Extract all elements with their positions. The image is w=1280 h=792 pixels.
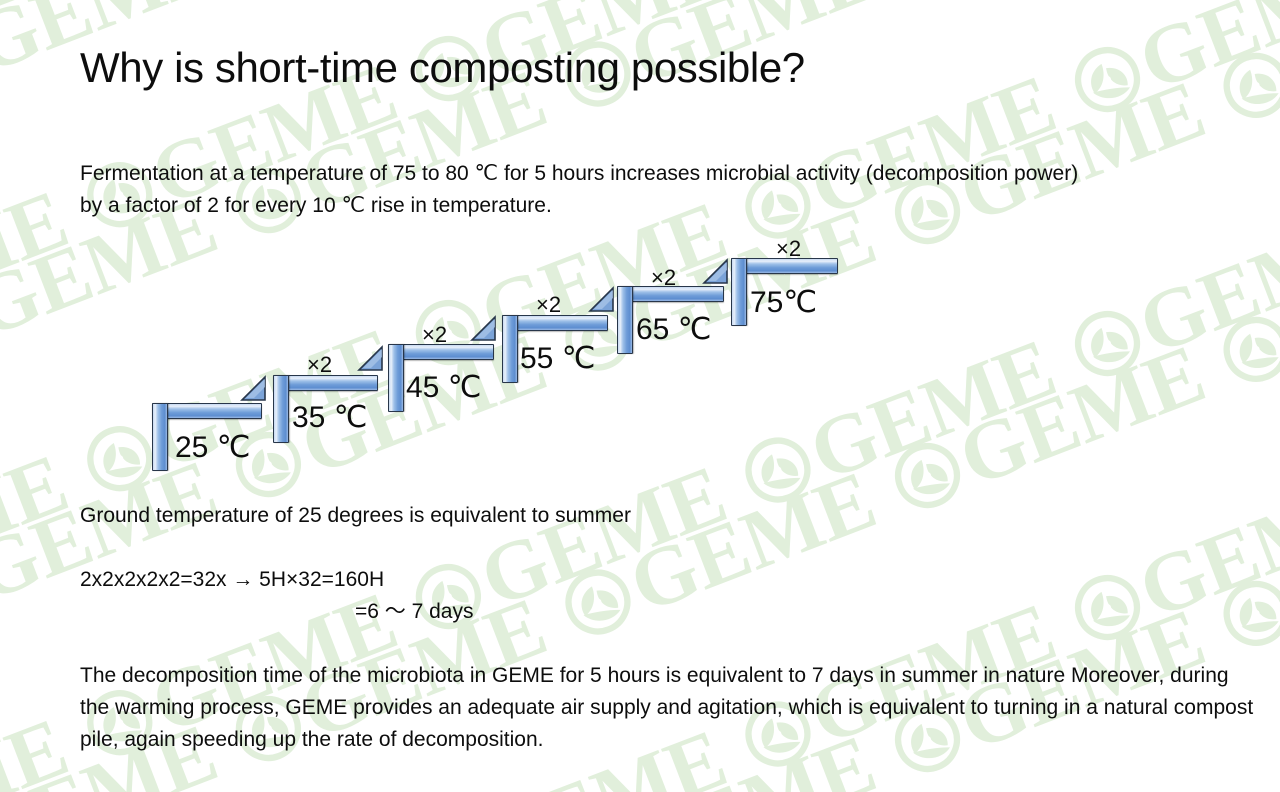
step-temperature-label: 25 ℃ (175, 430, 250, 465)
step-post (617, 286, 633, 354)
step-rise-arrow-icon (357, 345, 383, 371)
step-temperature-label: 75℃ (750, 285, 817, 320)
step-multiplier-label: ×2 (307, 352, 332, 378)
step-multiplier-label: ×2 (422, 322, 447, 348)
step-rise-arrow-icon (702, 258, 728, 284)
math-expression-line-2: =6 ～ 7 days (80, 596, 980, 628)
slide-canvas: GEME GEME GEME (0, 0, 1280, 792)
ground-temperature-note: Ground temperature of 25 degrees is equi… (80, 500, 980, 532)
step-multiplier-label: ×2 (536, 292, 561, 318)
step-post (273, 375, 289, 443)
step-multiplier-label: ×2 (651, 265, 676, 291)
step-post (388, 344, 404, 412)
step-post (731, 258, 747, 326)
step-rise-arrow-icon (240, 375, 266, 401)
step-temperature-label: 55 ℃ (520, 341, 595, 376)
step-temperature-label: 45 ℃ (406, 370, 481, 405)
step-temperature-label: 35 ℃ (292, 400, 367, 435)
step-post (502, 315, 518, 383)
step-beam (152, 403, 262, 419)
step-temperature-label: 65 ℃ (636, 312, 711, 347)
step-multiplier-label: ×2 (776, 236, 801, 262)
step-post (152, 403, 168, 471)
math-expression-line-1: 2x2x2x2x2=32x → 5H×32=160H (80, 564, 980, 596)
temperature-staircase-diagram: 25 ℃×2 35 ℃×2 45 ℃×2 55 ℃×2 65 ℃×275℃ (0, 0, 1280, 500)
step-rise-arrow-icon (588, 286, 614, 312)
step-rise-arrow-icon (470, 315, 496, 341)
closing-paragraph: The decomposition time of the microbiota… (80, 660, 1260, 756)
